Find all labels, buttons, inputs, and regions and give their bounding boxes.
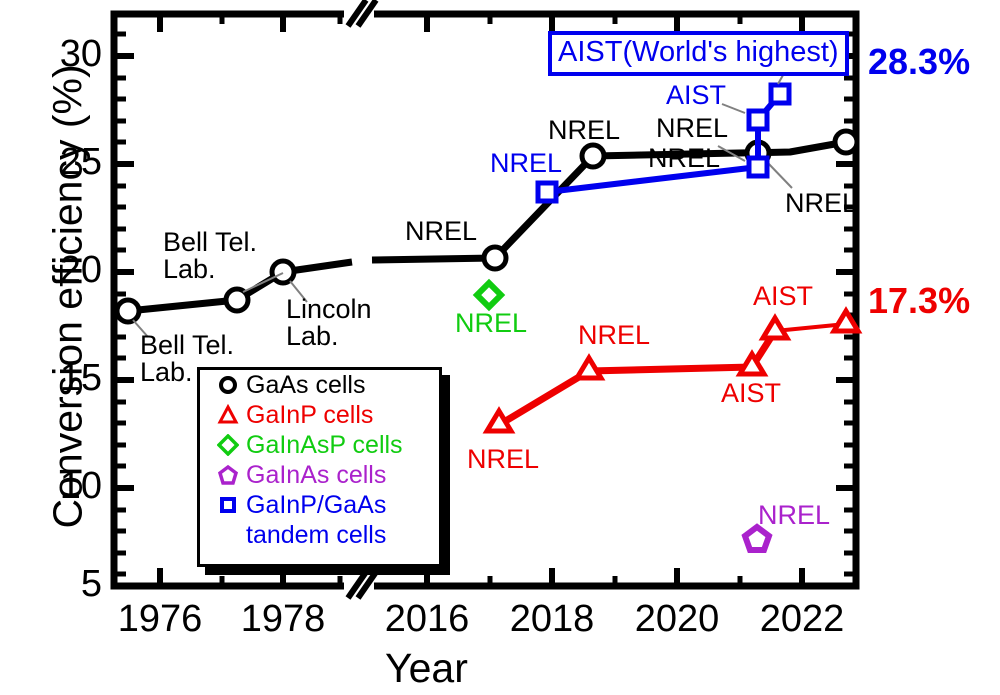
annotation-aist-gainp-low: AIST xyxy=(721,378,781,409)
y-tick-label-30: 30 xyxy=(32,33,102,76)
legend-label-tandem-line2: tandem cells xyxy=(246,520,439,550)
x-tick-label-2022: 2022 xyxy=(720,598,884,641)
annotation-aist-tandem-2021: AIST xyxy=(666,80,726,111)
data-point-tandem xyxy=(749,158,767,176)
annotation-bell-tel-lab-2-line2: Lab. xyxy=(163,254,216,285)
data-point-gaas xyxy=(582,145,604,167)
annotation-nrel-gaas-2019: NREL xyxy=(548,115,620,146)
data-point-gainp xyxy=(487,411,511,431)
y-tick-label-15: 15 xyxy=(32,357,102,400)
legend-item-tandem[interactable]: GaInP/GaAs xyxy=(210,490,439,520)
solar-cell-efficiency-chart: Conversion efficiency (%) Year 30 25 20 … xyxy=(0,0,1000,695)
record-efficiency-gainp: 17.3% xyxy=(868,280,970,322)
annotation-lincoln-lab-line2: Lab. xyxy=(286,321,339,352)
y-tick-label-10: 10 xyxy=(32,465,102,508)
annotation-nrel-gainas: NREL xyxy=(758,500,830,531)
triangle-marker-icon xyxy=(210,404,246,426)
pentagon-marker-icon xyxy=(210,464,246,486)
y-tick-label-20: 20 xyxy=(32,249,102,292)
data-point-gaas xyxy=(117,300,139,322)
annotation-nrel-tandem-2018: NREL xyxy=(490,148,562,179)
series-gainp xyxy=(487,311,858,431)
x-tick-label-1978: 1978 xyxy=(201,598,365,641)
record-efficiency-tandem: 28.3% xyxy=(868,41,970,83)
series-gainasp xyxy=(477,283,501,307)
annotation-nrel-gaas-2017: NREL xyxy=(405,216,477,247)
data-point-gaas xyxy=(835,131,857,153)
axis-break-top xyxy=(344,0,376,26)
data-point-gainp xyxy=(763,318,787,338)
legend-item-gainasp[interactable]: GaInAsP cells xyxy=(210,430,439,460)
legend-label-gainp: GaInP cells xyxy=(246,401,373,430)
aist-world-highest-box: AIST(World's highest) xyxy=(548,31,849,76)
annotation-nrel-gaas-2023: NREL xyxy=(785,188,857,219)
data-point-tandem xyxy=(538,183,556,201)
y-tick-label-25: 25 xyxy=(32,141,102,184)
annotation-nrel-gainp-2018: NREL xyxy=(467,444,539,475)
diamond-marker-icon xyxy=(210,434,246,456)
annotation-nrel-tandem-2021: NREL xyxy=(648,143,720,174)
data-point-tandem xyxy=(771,85,789,103)
legend-box: GaAs cells GaInP cells GaInAsP cells GaI… xyxy=(197,367,442,567)
data-point-gainp xyxy=(577,358,601,378)
annotation-nrel-gaas-2021: NREL xyxy=(656,113,728,144)
annotation-aist-gainp-high: AIST xyxy=(753,281,813,312)
data-point-gaas xyxy=(226,289,248,311)
legend-label-gaas: GaAs cells xyxy=(246,371,365,400)
annotation-nrel-gainp-2019: NREL xyxy=(578,320,650,351)
legend-item-gaas[interactable]: GaAs cells xyxy=(210,370,439,400)
legend-item-gainas[interactable]: GaInAs cells xyxy=(210,460,439,490)
data-point-gaas xyxy=(272,261,294,283)
axis-break-bottom xyxy=(344,572,376,598)
x-axis-title: Year xyxy=(385,645,468,692)
annotation-bell-tel-lab-1-line2: Lab. xyxy=(140,357,193,388)
square-marker-icon xyxy=(210,494,246,516)
data-point-tandem xyxy=(749,111,767,129)
data-point-gainasp xyxy=(477,283,501,307)
legend-label-tandem: GaInP/GaAs xyxy=(246,491,386,520)
annotation-nrel-gainasp: NREL xyxy=(455,308,527,339)
legend-label-gainasp: GaInAsP cells xyxy=(246,431,403,460)
circle-marker-icon xyxy=(210,374,246,396)
legend-item-gainp[interactable]: GaInP cells xyxy=(210,400,439,430)
legend-label-gainas: GaInAs cells xyxy=(246,461,386,490)
data-point-gaas xyxy=(484,247,506,269)
